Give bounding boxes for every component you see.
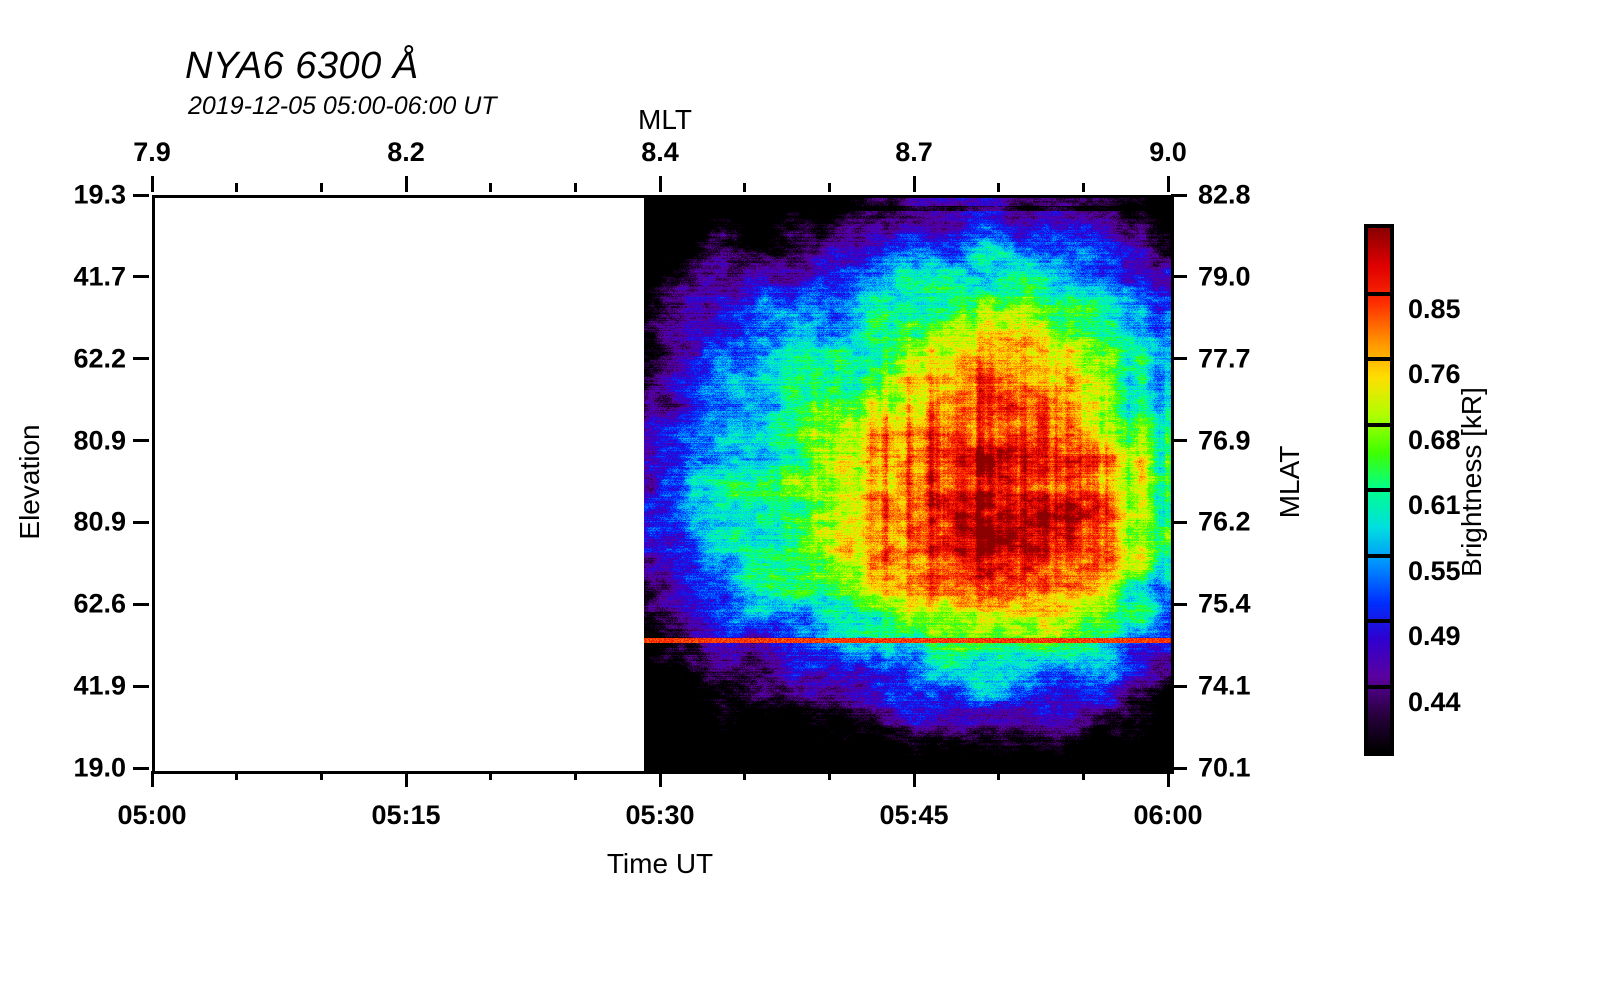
colorbar-tick-label-5: 0.49 [1408, 621, 1461, 652]
mlat-tick-5 [1171, 603, 1187, 606]
x-tick-label-2: 05:30 [625, 800, 694, 831]
x-tick-major-4 [1167, 771, 1170, 787]
colorbar-separator-1 [1368, 357, 1390, 361]
mlat-tick-label-7: 70.1 [1198, 753, 1251, 784]
keogram-plot-area [155, 198, 1171, 771]
elev-tick-label-3: 80.9 [73, 425, 126, 456]
keogram-image [644, 198, 1171, 771]
x-tick-major-1 [405, 771, 408, 787]
x-tick-minor-2-1 [743, 771, 746, 780]
mlat-tick-label-2: 77.7 [1198, 343, 1251, 374]
x-tick-major-2 [659, 771, 662, 787]
colorbar-tick-label-3: 0.61 [1408, 490, 1461, 521]
mlt-tick-major-3 [913, 176, 916, 192]
x-tick-label-0: 05:00 [117, 800, 186, 831]
x-tick-minor-1-2 [574, 771, 577, 780]
mlat-tick-label-4: 76.2 [1198, 507, 1251, 538]
x-tick-minor-1-1 [489, 771, 492, 780]
x-tick-minor-0-1 [235, 771, 238, 780]
x-tick-minor-0-2 [320, 771, 323, 780]
mlt-tick-label-4: 9.0 [1149, 137, 1187, 168]
colorbar-tick-label-0: 0.85 [1408, 294, 1461, 325]
mlat-tick-2 [1171, 357, 1187, 360]
elev-tick-0 [133, 194, 149, 197]
mlat-tick-label-1: 79.0 [1198, 261, 1251, 292]
colorbar-title: Brightness [kR] [1456, 387, 1488, 577]
elev-tick-label-7: 19.0 [73, 753, 126, 784]
y-axis-title-elevation: Elevation [14, 424, 46, 539]
x-tick-minor-3-1 [997, 771, 1000, 780]
page-subtitle: 2019-12-05 05:00-06:00 UT [188, 92, 497, 121]
elev-tick-2 [133, 357, 149, 360]
mlt-tick-major-1 [405, 176, 408, 192]
x-axis-title: Time UT [607, 848, 713, 880]
mlt-tick-minor-3-1 [997, 183, 1000, 192]
mlt-tick-major-4 [1167, 176, 1170, 192]
mlat-tick-3 [1171, 439, 1187, 442]
elev-tick-5 [133, 603, 149, 606]
elev-tick-label-6: 41.9 [73, 671, 126, 702]
mlat-tick-label-6: 74.1 [1198, 671, 1251, 702]
mlt-tick-major-2 [659, 176, 662, 192]
colorbar-tick-label-1: 0.76 [1408, 359, 1461, 390]
page-title: NYA6 6300 Å [185, 45, 419, 88]
mlat-tick-label-0: 82.8 [1198, 180, 1251, 211]
elev-tick-3 [133, 439, 149, 442]
elev-tick-1 [133, 275, 149, 278]
elev-tick-6 [133, 685, 149, 688]
x-tick-minor-2-2 [828, 771, 831, 780]
mlat-tick-6 [1171, 685, 1187, 688]
mlat-tick-4 [1171, 521, 1187, 524]
colorbar-tick-label-4: 0.55 [1408, 556, 1461, 587]
mlt-tick-label-1: 8.2 [387, 137, 425, 168]
elev-tick-label-1: 41.7 [73, 261, 126, 292]
mlt-tick-minor-3-2 [1082, 183, 1085, 192]
mlt-tick-major-0 [151, 176, 154, 192]
elev-tick-4 [133, 521, 149, 524]
elev-tick-label-5: 62.6 [73, 589, 126, 620]
x-tick-label-1: 05:15 [371, 800, 440, 831]
colorbar-separator-3 [1368, 488, 1390, 492]
x-tick-major-3 [913, 771, 916, 787]
colorbar-separator-2 [1368, 423, 1390, 427]
mlat-tick-0 [1171, 194, 1187, 197]
mlt-tick-minor-1-1 [489, 183, 492, 192]
mlt-tick-minor-2-2 [828, 183, 831, 192]
x-tick-minor-3-2 [1082, 771, 1085, 780]
mlat-tick-label-5: 75.4 [1198, 589, 1251, 620]
keogram-plot-frame [152, 195, 1174, 774]
colorbar [1364, 224, 1394, 756]
colorbar-separator-6 [1368, 685, 1390, 689]
colorbar-separator-5 [1368, 619, 1390, 623]
mlt-tick-label-2: 8.4 [641, 137, 679, 168]
y-axis-title-mlat: MLAT [1274, 446, 1306, 519]
elev-tick-label-2: 62.2 [73, 343, 126, 374]
colorbar-tick-label-2: 0.68 [1408, 425, 1461, 456]
mlt-tick-minor-2-1 [743, 183, 746, 192]
x-tick-major-0 [151, 771, 154, 787]
elev-tick-label-0: 19.3 [73, 180, 126, 211]
mlt-tick-label-0: 7.9 [133, 137, 171, 168]
colorbar-separator-0 [1368, 292, 1390, 296]
elev-tick-7 [133, 767, 149, 770]
colorbar-tick-label-6: 0.44 [1408, 687, 1461, 718]
mlat-tick-1 [1171, 275, 1187, 278]
mlat-tick-label-3: 76.9 [1198, 425, 1251, 456]
mlat-tick-7 [1171, 767, 1187, 770]
x-tick-label-4: 06:00 [1133, 800, 1202, 831]
mlt-tick-label-3: 8.7 [895, 137, 933, 168]
mlt-tick-minor-0-1 [235, 183, 238, 192]
mlt-axis-title: MLT [638, 104, 692, 136]
x-tick-label-3: 05:45 [879, 800, 948, 831]
elev-tick-label-4: 80.9 [73, 507, 126, 538]
colorbar-separator-4 [1368, 554, 1390, 558]
mlt-tick-minor-0-2 [320, 183, 323, 192]
mlt-tick-minor-1-2 [574, 183, 577, 192]
